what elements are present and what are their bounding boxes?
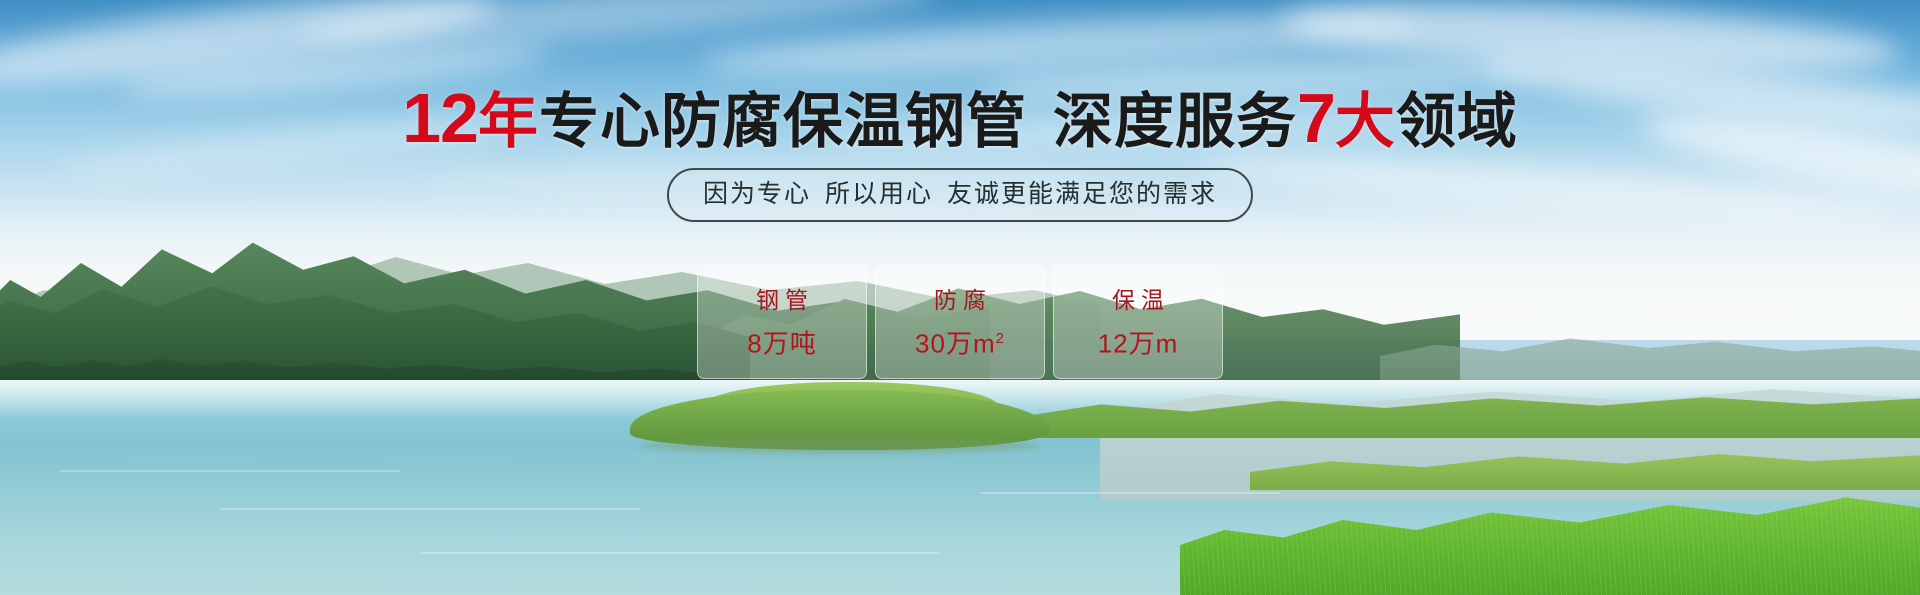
headline-fields-measure: 大 [1335,88,1396,155]
stat-card-value-text: 8万吨 [747,328,816,358]
stat-card-value-text: 30万m [915,328,996,358]
stat-card-value: 8万吨 [747,325,816,358]
headline-years-unit: 年 [478,88,539,155]
stat-card-value: 30万m2 [915,325,1005,358]
stat-card-title: 钢管 [750,287,814,313]
subtitle-part-three: 友诚更能满足您的需求 [947,180,1217,208]
headline-years-number: 12 [402,79,478,157]
subtitle-part-two: 所以用心 [825,180,933,208]
banner-content: 12年专心防腐保温钢管深度服务7大领域 因为专心所以用心友诚更能满足您的需求 钢… [0,0,1920,595]
headline-fields-number: 7 [1297,79,1335,157]
headline-phrase-two: 深度服务 [1053,88,1297,155]
headline-phrase-three: 领域 [1396,88,1518,155]
stat-card-value-superscript: 2 [996,330,1005,347]
promo-banner: 12年专心防腐保温钢管深度服务7大领域 因为专心所以用心友诚更能满足您的需求 钢… [0,0,1920,595]
stat-card-insulation[interactable]: 保温 12万m [1053,265,1223,379]
stat-card-value: 12万m [1098,325,1179,358]
headline: 12年专心防腐保温钢管深度服务7大领域 [0,86,1920,154]
stat-card-group: 钢管 8万吨 防腐 30万m2 保温 12万m [697,265,1223,379]
stat-card-anticorrosion[interactable]: 防腐 30万m2 [875,265,1045,379]
stat-card-title: 保温 [1106,287,1170,313]
stat-card-value-text: 12万m [1098,328,1179,358]
stat-card-title: 防腐 [928,287,992,313]
subtitle-pill: 因为专心所以用心友诚更能满足您的需求 [667,168,1253,222]
stat-card-steel-pipe[interactable]: 钢管 8万吨 [697,265,867,379]
subtitle-part-one: 因为专心 [703,180,811,208]
headline-phrase-one: 专心防腐保温钢管 [539,88,1027,155]
